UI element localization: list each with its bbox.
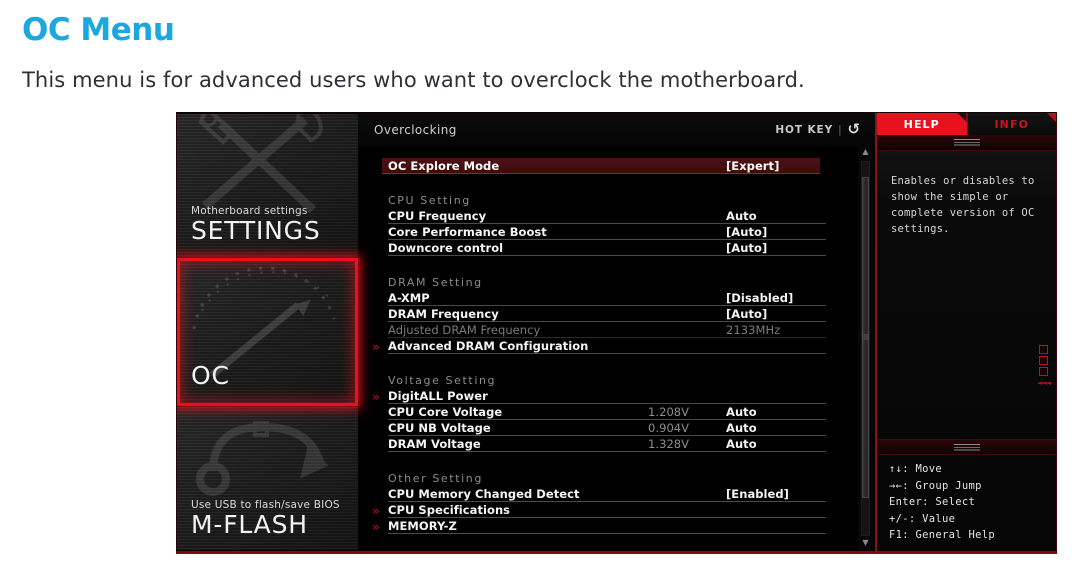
settings-row-label: Advanced DRAM Configuration» [388, 339, 648, 353]
key-legend-line: ↑↓: Move [889, 461, 1056, 478]
sidebar-tile-label: SETTINGS [191, 218, 358, 244]
key-legend-line: →←: Group Jump [889, 478, 1056, 495]
grip-handle-icon[interactable] [954, 139, 980, 146]
settings-row-label: Adjusted DRAM Frequency [388, 323, 648, 337]
return-icon[interactable]: ↺ [848, 122, 861, 137]
list-spacer [388, 354, 858, 368]
settings-row[interactable]: CPU FrequencyAuto [388, 208, 826, 224]
help-text: Enables or disables to show the simple o… [891, 173, 1044, 237]
page-indicator[interactable]: ◄◄◄ [1037, 345, 1050, 387]
bios-screenshot: Motherboard settings SETTINGS OC Use USB… [176, 112, 1057, 554]
scrollbar-grip-icon [863, 335, 868, 340]
settings-row-value[interactable]: Auto [726, 209, 826, 223]
page-mark-icon[interactable] [1039, 345, 1048, 354]
corner-notch-icon [1047, 113, 1056, 122]
sidebar-tile-settings[interactable]: Motherboard settings SETTINGS [177, 113, 358, 258]
settings-row-label: Core Performance Boost [388, 225, 648, 239]
settings-list-area: OC Explore Mode[Expert]CPU SettingCPU Fr… [358, 146, 875, 551]
settings-row[interactable]: Downcore control[Auto] [388, 240, 826, 256]
sidebar-tile-mflash[interactable]: Use USB to flash/save BIOS M-FLASH [177, 406, 358, 551]
settings-row-current-value: 1.328V [648, 437, 726, 451]
settings-row-value: 2133MHz [726, 323, 826, 337]
settings-row-value[interactable]: [Expert] [726, 159, 820, 173]
settings-row[interactable]: DRAM Frequency[Auto] [388, 306, 826, 322]
settings-row[interactable]: OC Explore Mode[Expert] [382, 158, 820, 174]
bios-header: Overclocking HOT KEY | ↺ [358, 113, 875, 146]
page-title: OC Menu [22, 12, 174, 48]
settings-row[interactable]: Core Performance Boost[Auto] [388, 224, 826, 240]
settings-row-label: OC Explore Mode [388, 159, 648, 173]
settings-row[interactable]: CPU NB Voltage0.904VAuto [388, 420, 826, 436]
tab-info[interactable]: INFO [967, 113, 1057, 135]
grip-handle-icon[interactable] [954, 444, 980, 451]
settings-row[interactable]: A-XMP[Disabled] [388, 290, 826, 306]
hotkey-label: HOT KEY [775, 124, 833, 136]
settings-row[interactable]: CPU Memory Changed Detect[Enabled] [388, 486, 826, 502]
section-header: CPU Setting [388, 188, 858, 208]
tab-help[interactable]: HELP [877, 113, 967, 135]
key-legend-line: +/-: Value [889, 511, 1056, 528]
settings-row-value[interactable]: [Auto] [726, 241, 826, 255]
settings-row[interactable]: DigitALL Power» [388, 388, 826, 404]
settings-row-value[interactable]: [Disabled] [726, 291, 826, 305]
help-info-tabs: HELP INFO [877, 113, 1056, 135]
settings-row: Adjusted DRAM Frequency2133MHz [388, 322, 826, 338]
settings-row-label: CPU Frequency [388, 209, 648, 223]
list-spacer [388, 452, 858, 466]
page-mark-icon[interactable] [1039, 356, 1048, 365]
key-legend-line: Enter: Select [889, 494, 1056, 511]
page-subtitle: This menu is for advanced users who want… [22, 68, 805, 92]
tab-label: INFO [994, 118, 1029, 131]
scroll-up-icon[interactable]: ▲ [862, 148, 868, 158]
settings-row-label: CPU Memory Changed Detect [388, 487, 648, 501]
breadcrumb: Overclocking [374, 123, 457, 137]
settings-list: OC Explore Mode[Expert]CPU SettingCPU Fr… [358, 146, 858, 551]
chevron-right-icon: » [372, 390, 380, 404]
hotkey-group[interactable]: HOT KEY | ↺ [775, 122, 861, 137]
vertical-scrollbar[interactable]: ▲ ▼ [858, 146, 873, 551]
section-header: Other Setting [388, 466, 858, 486]
settings-row-current-value: 1.208V [648, 405, 726, 419]
tab-label: HELP [904, 118, 940, 131]
scrollbar-track[interactable] [861, 161, 870, 536]
settings-row-label: A-XMP [388, 291, 648, 305]
settings-row-value[interactable]: Auto [726, 405, 826, 419]
key-legend-line: F1: General Help [889, 527, 1056, 544]
hotkey-separator: | [838, 124, 842, 136]
settings-row[interactable]: CPU Specifications» [388, 502, 826, 518]
chevron-right-icon: » [372, 520, 380, 534]
settings-row-label: CPU NB Voltage [388, 421, 648, 435]
corner-notch-icon [958, 113, 967, 122]
page-arrows-icon[interactable]: ◄◄◄ [1037, 379, 1050, 387]
section-header: DRAM Setting [388, 270, 858, 290]
settings-row-label: MEMORY-Z» [388, 519, 648, 533]
settings-row-label: CPU Specifications» [388, 503, 648, 517]
chevron-right-icon: » [372, 340, 380, 354]
settings-row-value[interactable]: Auto [726, 437, 826, 451]
sidebar-tile-label: M-FLASH [191, 512, 358, 538]
page-mark-icon[interactable] [1039, 367, 1048, 376]
settings-row-value[interactable]: [Auto] [726, 225, 826, 239]
settings-row-current-value: 0.904V [648, 421, 726, 435]
help-body: Enables or disables to show the simple o… [877, 151, 1056, 439]
settings-row-label: DigitALL Power» [388, 389, 648, 403]
chevron-right-icon: » [372, 504, 380, 518]
settings-row-value[interactable]: Auto [726, 421, 826, 435]
scroll-down-icon[interactable]: ▼ [862, 539, 868, 549]
settings-row-label: DRAM Frequency [388, 307, 648, 321]
settings-row-label: Downcore control [388, 241, 648, 255]
list-spacer [388, 174, 858, 188]
settings-row-value[interactable]: [Auto] [726, 307, 826, 321]
key-legend: ↑↓: Move→←: Group JumpEnter: Select+/-: … [877, 455, 1056, 551]
keys-panel-divider[interactable] [877, 439, 1056, 455]
settings-row-label: DRAM Voltage [388, 437, 648, 451]
help-panel-divider[interactable] [877, 135, 1056, 151]
bios-sidebar: Motherboard settings SETTINGS OC Use USB… [177, 113, 358, 551]
settings-row[interactable]: MEMORY-Z» [388, 518, 826, 534]
sidebar-tile-oc[interactable]: OC [177, 258, 358, 407]
sidebar-tile-label: OC [191, 363, 355, 389]
bios-help-panel: HELP INFO Enables or disables to show th… [875, 113, 1056, 551]
list-spacer [388, 256, 858, 270]
scrollbar-thumb[interactable] [862, 177, 869, 498]
settings-row[interactable]: CPU Core Voltage1.208VAuto [388, 404, 826, 420]
settings-row[interactable]: Advanced DRAM Configuration» [388, 338, 826, 354]
bios-main-panel: Overclocking HOT KEY | ↺ OC Explore Mode… [358, 113, 875, 551]
settings-row-label: CPU Core Voltage [388, 405, 648, 419]
sidebar-tile-subtitle: Use USB to flash/save BIOS [191, 499, 358, 511]
section-header: Voltage Setting [388, 368, 858, 388]
settings-row-value[interactable]: [Enabled] [726, 487, 826, 501]
settings-row[interactable]: DRAM Voltage1.328VAuto [388, 436, 826, 452]
